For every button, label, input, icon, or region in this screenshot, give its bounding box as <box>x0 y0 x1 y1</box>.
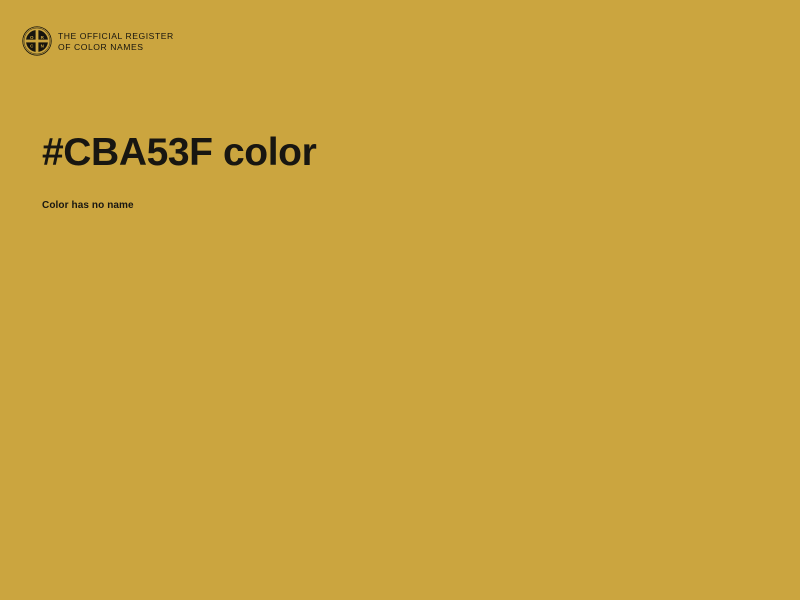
color-page: O R C N THE OFFICIAL REGISTER OF COLOR N… <box>0 0 800 600</box>
color-name-status: Color has no name <box>42 199 134 212</box>
brand-line-2: OF COLOR NAMES <box>58 42 174 52</box>
svg-text:N: N <box>41 44 44 49</box>
brand-wordmark: THE OFFICIAL REGISTER OF COLOR NAMES <box>58 31 174 52</box>
brand-line-1: THE OFFICIAL REGISTER <box>58 31 174 41</box>
page-title: #CBA53F color <box>42 131 316 175</box>
brand-lockup[interactable]: O R C N THE OFFICIAL REGISTER OF COLOR N… <box>22 26 174 56</box>
register-seal-icon: O R C N <box>22 26 52 56</box>
svg-text:O: O <box>30 35 34 40</box>
